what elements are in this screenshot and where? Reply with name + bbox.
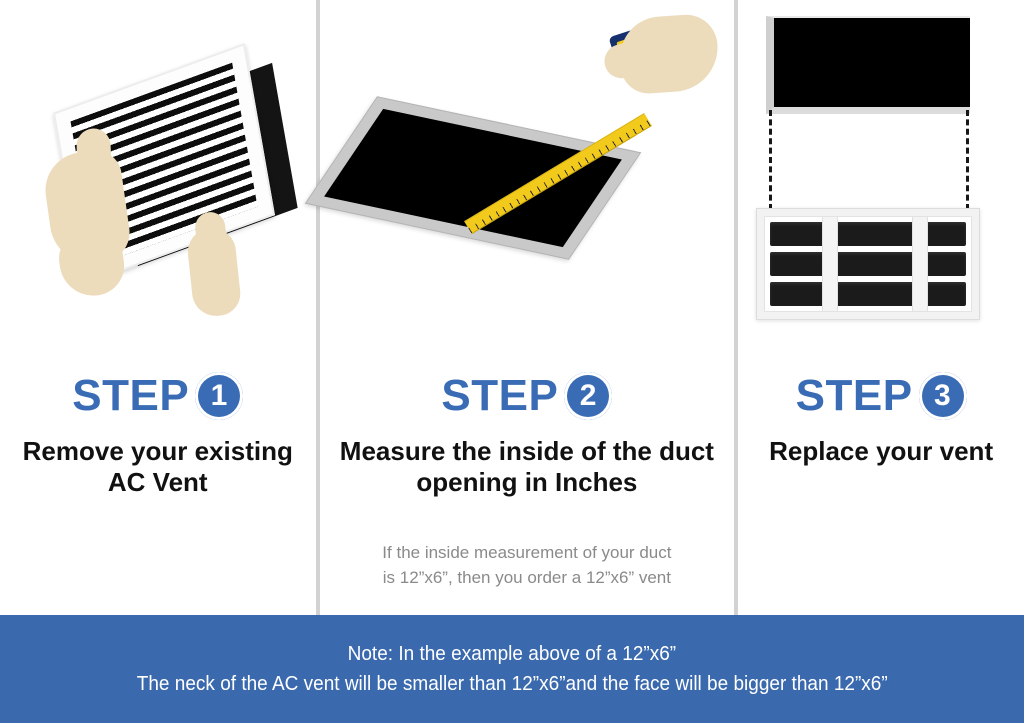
alignment-guide-left	[769, 110, 772, 210]
measuring-hand-icon	[617, 13, 720, 96]
vent-louver-row	[770, 282, 966, 306]
duct-opening-icon	[304, 96, 640, 259]
step-2-subnote-line-2: is 12”x6”, then you order a 12”x6” vent	[342, 565, 713, 590]
step-2-headline: Measure the inside of the duct opening i…	[320, 436, 735, 498]
vent-louver-row	[770, 252, 966, 276]
vent-louver-row	[770, 222, 966, 246]
hands-holding-ac-vent-figure	[0, 0, 318, 370]
step-panel-2: STEP 2 Measure the inside of the duct op…	[320, 0, 735, 615]
vent-alignment-figure	[738, 0, 1024, 370]
step-3-word: STEP	[796, 370, 913, 422]
step-1-headline: Remove your existing AC Vent	[0, 436, 316, 498]
step-1-label: STEP 1	[0, 370, 316, 422]
step-2-illustration	[320, 0, 735, 370]
replacement-vent-face	[764, 216, 972, 312]
step-panel-3: STEP 3 Replace your vent	[738, 0, 1024, 615]
step-1-illustration	[0, 0, 316, 370]
duct-opening-icon-top	[766, 16, 970, 114]
instruction-graphic: STEP 1 Remove your existing AC Vent STE	[0, 0, 1024, 723]
step-2-word: STEP	[441, 370, 558, 422]
note-banner: Note: In the example above of a 12”x6” T…	[0, 615, 1024, 723]
step-3-label: STEP 3	[738, 370, 1024, 422]
note-banner-line-1: Note: In the example above of a 12”x6”	[348, 639, 676, 669]
step-3-illustration	[738, 0, 1024, 370]
step-2-subnote: If the inside measurement of your duct i…	[320, 540, 735, 590]
step-panel-1: STEP 1 Remove your existing AC Vent	[0, 0, 316, 615]
steps-row: STEP 1 Remove your existing AC Vent STE	[0, 0, 1024, 615]
note-banner-line-2: The neck of the AC vent will be smaller …	[137, 669, 888, 699]
replacement-vent-icon	[756, 208, 980, 320]
step-3-headline: Replace your vent	[738, 436, 1024, 467]
left-hand-icon	[41, 147, 134, 269]
step-2-number-badge: 2	[564, 372, 612, 420]
duct-measuring-figure	[320, 0, 738, 370]
step-3-number-badge: 3	[919, 372, 967, 420]
right-hand-icon	[186, 226, 243, 319]
step-2-subnote-line-1: If the inside measurement of your duct	[342, 540, 713, 565]
alignment-guide-right	[966, 110, 969, 210]
step-2-label: STEP 2	[320, 370, 735, 422]
step-1-word: STEP	[72, 370, 189, 422]
step-1-number-badge: 1	[195, 372, 243, 420]
